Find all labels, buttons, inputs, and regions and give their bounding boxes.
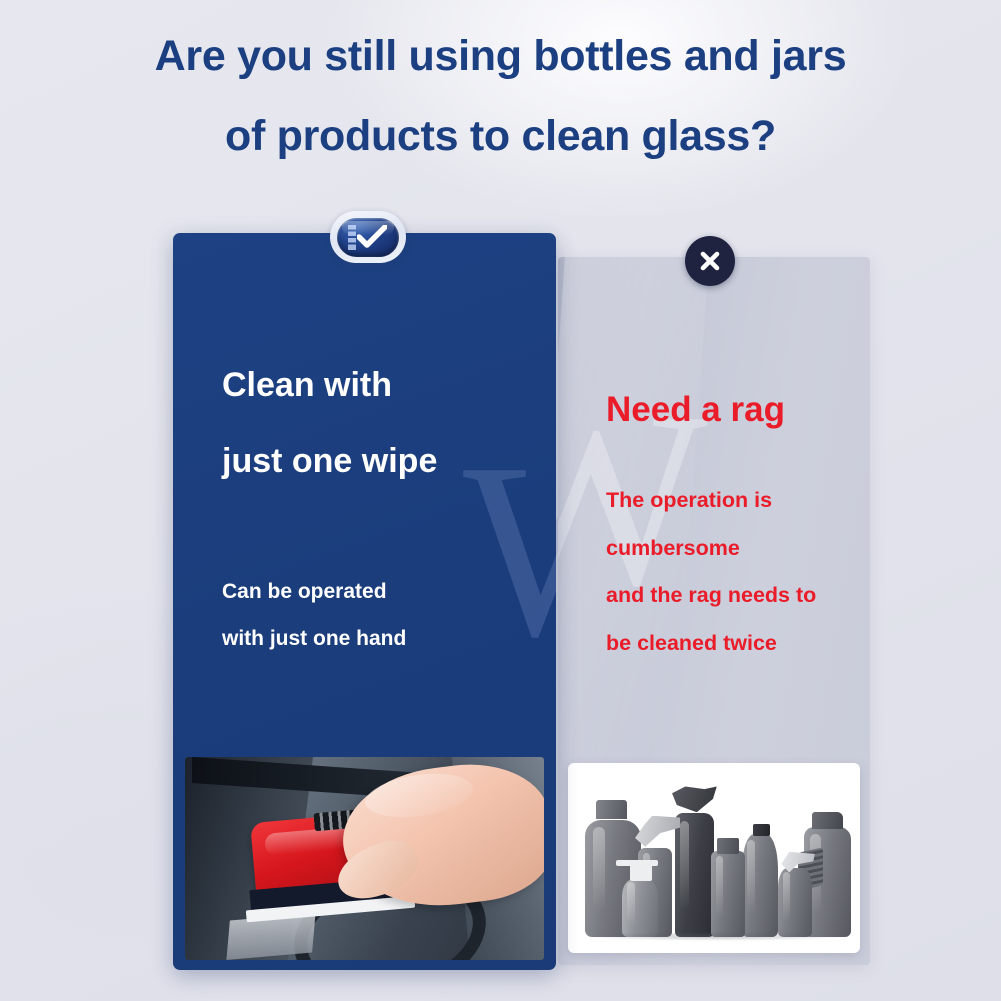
bottle-trigger-dark xyxy=(669,786,717,812)
negative-line-3: and the rag needs to xyxy=(606,585,816,607)
negative-line-4: be cleaned twice xyxy=(606,633,816,655)
infographic-canvas: Are you still using bottles and jars of … xyxy=(0,0,1001,1001)
headline-line-2: of products to clean glass? xyxy=(0,113,1001,160)
positive-heading-line-2: just one wipe xyxy=(222,444,437,478)
cleaning-tool-photo xyxy=(185,757,544,960)
bottle-pump-front xyxy=(622,879,658,937)
bottles-photo-content xyxy=(574,771,854,943)
bottle-tall-dark xyxy=(675,813,714,937)
pump-head xyxy=(616,860,658,865)
bottles-photo xyxy=(568,763,860,953)
headline-line-1: Are you still using bottles and jars xyxy=(155,32,847,80)
x-badge-icon xyxy=(685,236,735,286)
positive-heading-line-1: Clean with xyxy=(222,366,392,404)
negative-line-2: cumbersome xyxy=(606,538,816,560)
badge-label-marks xyxy=(348,225,356,250)
bottle-cap-right xyxy=(812,812,843,829)
positive-sub-line-1: Can be operated xyxy=(222,580,387,603)
bottles-shadow xyxy=(585,932,845,941)
page-title: Are you still using bottles and jars of … xyxy=(0,33,1001,161)
positive-description: Can be operated with just one hand xyxy=(222,581,406,649)
close-icon xyxy=(697,248,723,274)
bottle-cap-cone xyxy=(753,824,770,836)
check-mark-icon xyxy=(357,225,387,249)
positive-sub-line-2: with just one hand xyxy=(222,628,406,649)
bottle-squeeze xyxy=(711,851,745,937)
positive-comparison-panel: W Clean with just one wipe Can be operat… xyxy=(173,233,556,970)
negative-heading: Need a rag xyxy=(606,392,785,427)
watermark-letter-blue: W xyxy=(463,448,556,653)
negative-line-1: The operation is xyxy=(606,490,816,512)
negative-description: The operation is cumbersome and the rag … xyxy=(606,490,816,654)
check-badge-inner xyxy=(337,218,399,257)
negative-comparison-panel: W Need a rag The operation is cumbersome… xyxy=(558,257,870,965)
bottle-spray-right xyxy=(778,868,812,937)
positive-heading: Clean with just one wipe xyxy=(222,368,437,478)
bottle-cap-squeeze xyxy=(717,838,739,853)
bottle-cap-left xyxy=(596,800,627,819)
check-badge-icon xyxy=(330,211,406,263)
bottle-cone xyxy=(742,834,778,937)
